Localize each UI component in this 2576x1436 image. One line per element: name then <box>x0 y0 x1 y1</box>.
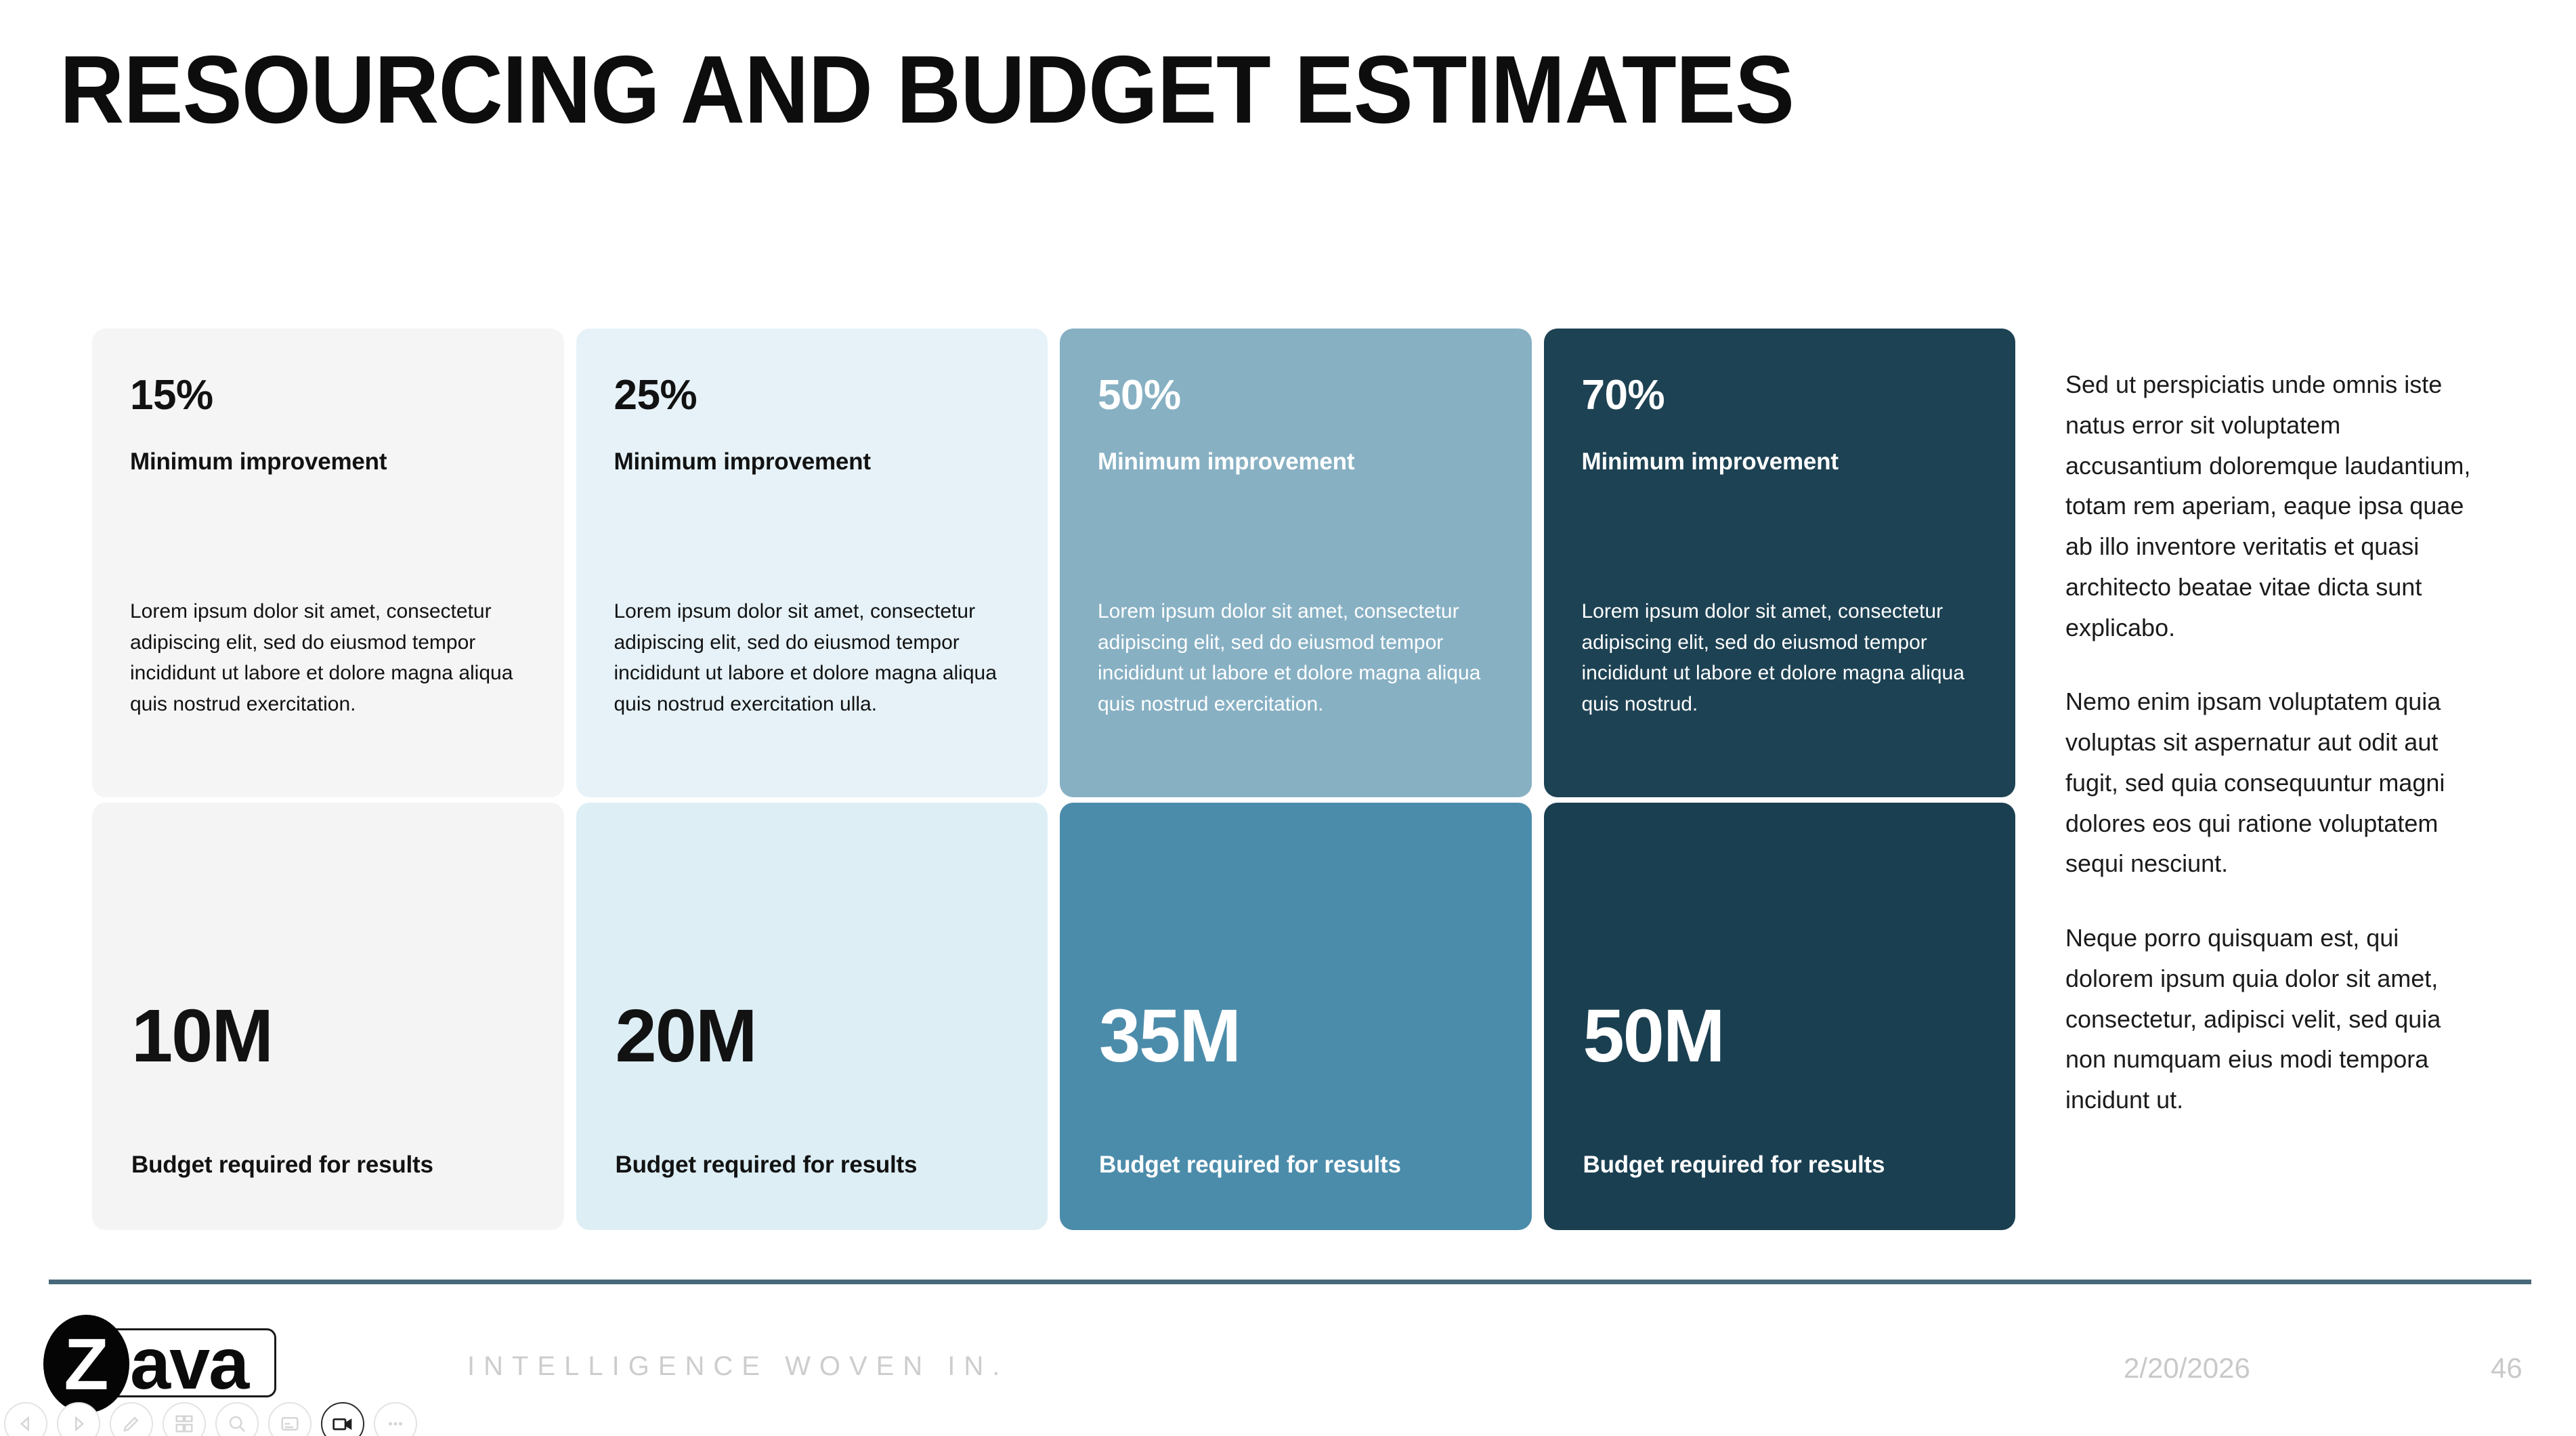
budget-amount-label: Budget required for results <box>1583 1152 1885 1179</box>
side-paragraph-1: Sed ut perspiciatis unde omnis iste natu… <box>2065 364 2472 648</box>
presenter-toolbar <box>4 1412 417 1436</box>
logo-letter-z: Z <box>43 1315 129 1413</box>
page-title: RESOURCING AND BUDGET ESTIMATES <box>60 39 1794 140</box>
more-options-icon[interactable] <box>374 1402 417 1436</box>
metric-card-budget-4[interactable]: 50M Budget required for results <box>1544 803 2016 1230</box>
metric-body-text: Lorem ipsum dolor sit amet, consectetur … <box>614 596 1010 719</box>
side-paragraph-3: Neque porro quisquam est, qui dolorem ip… <box>2065 918 2472 1120</box>
side-description-column: Sed ut perspiciatis unde omnis iste natu… <box>2065 364 2472 1120</box>
metric-percent-value: 25% <box>614 375 1010 417</box>
slide-canvas: RESOURCING AND BUDGET ESTIMATES 15% Mini… <box>0 0 2576 1436</box>
subtitles-icon[interactable] <box>268 1402 312 1436</box>
logo-wordmark: ava <box>130 1331 248 1396</box>
metric-percent-value: 70% <box>1582 375 1978 417</box>
metric-card-budget-2[interactable]: 20M Budget required for results <box>576 803 1048 1230</box>
camera-icon[interactable] <box>321 1402 364 1436</box>
metric-body-text: Lorem ipsum dolor sit amet, consectetur … <box>130 596 526 719</box>
footer-page-number: 46 <box>2491 1352 2523 1385</box>
budget-amount-value: 20M <box>616 999 756 1074</box>
metric-card-budget-3[interactable]: 35M Budget required for results <box>1060 803 1532 1230</box>
budget-amount-value: 10M <box>131 999 272 1074</box>
metric-percent-label: Minimum improvement <box>1582 449 1978 476</box>
metric-percent-label: Minimum improvement <box>130 449 526 476</box>
metric-percent-label: Minimum improvement <box>1098 449 1494 476</box>
metric-percent-value: 50% <box>1098 375 1494 417</box>
metric-body-text: Lorem ipsum dolor sit amet, consectetur … <box>1098 596 1494 719</box>
footer-divider <box>49 1280 2531 1284</box>
footer-date: 2/20/2026 <box>2124 1352 2250 1385</box>
metric-card-improvement-3[interactable]: 50% Minimum improvement Lorem ipsum dolo… <box>1060 329 1532 797</box>
metric-card-improvement-2[interactable]: 25% Minimum improvement Lorem ipsum dolo… <box>576 329 1048 797</box>
metric-card-budget-1[interactable]: 10M Budget required for results <box>92 803 564 1230</box>
budget-amount-value: 50M <box>1583 999 1724 1074</box>
budget-amount-value: 35M <box>1099 999 1240 1074</box>
budget-amount-label: Budget required for results <box>131 1152 433 1179</box>
budget-amount-label: Budget required for results <box>1099 1152 1401 1179</box>
budget-amount-label: Budget required for results <box>616 1152 918 1179</box>
footer-tagline: INTELLIGENCE WOVEN IN. <box>467 1351 1008 1382</box>
metrics-grid: 15% Minimum improvement Lorem ipsum dolo… <box>92 329 2015 1226</box>
metric-percent-value: 15% <box>130 375 526 417</box>
metric-body-text: Lorem ipsum dolor sit amet, consectetur … <box>1582 596 1978 719</box>
zava-logo: Z ava <box>35 1315 286 1413</box>
metric-percent-label: Minimum improvement <box>614 449 1010 476</box>
metric-card-improvement-4[interactable]: 70% Minimum improvement Lorem ipsum dolo… <box>1544 329 2016 797</box>
metric-card-improvement-1[interactable]: 15% Minimum improvement Lorem ipsum dolo… <box>92 329 564 797</box>
side-paragraph-2: Nemo enim ipsam voluptatem quia voluptas… <box>2065 681 2472 884</box>
